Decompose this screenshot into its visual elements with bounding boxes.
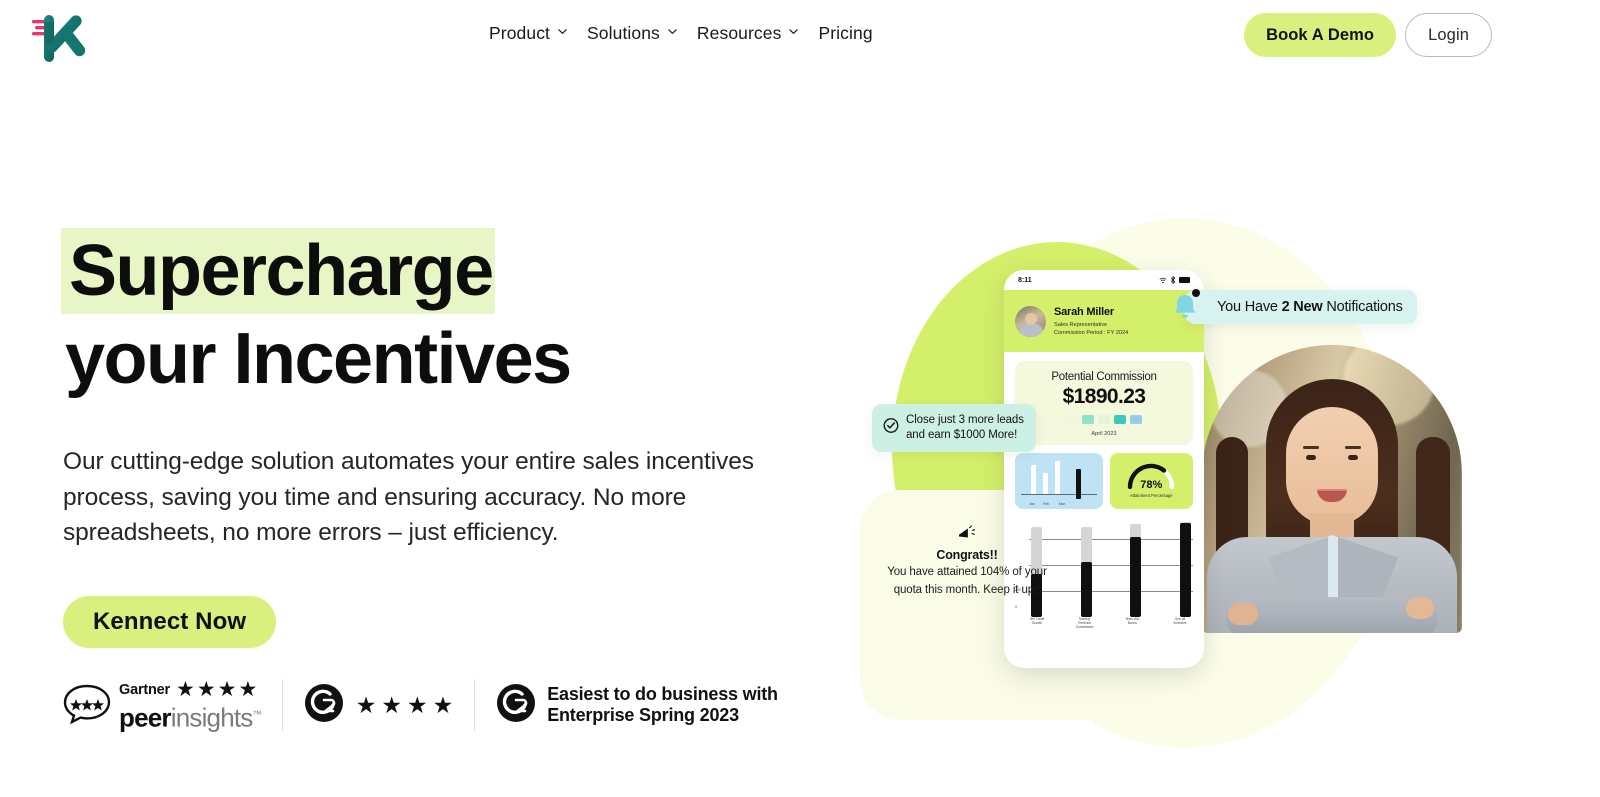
photo-smile	[1317, 489, 1347, 502]
mini-bar-chart-widget: Jan Feb Mar	[1015, 453, 1103, 509]
chart-x-label: Net Credit Growth	[1026, 617, 1048, 629]
landing-page: Product Solutions Resources Pricing	[0, 0, 1600, 797]
notification-badge-dot	[1192, 289, 1200, 297]
page-title: Supercharge your Incentives	[63, 228, 823, 400]
phone-status-bar: 8:11	[1004, 270, 1204, 290]
hero-content: Supercharge your Incentives Our cutting-…	[63, 228, 823, 648]
star-icon: ★	[381, 692, 402, 719]
wifi-icon	[1159, 277, 1167, 284]
mini-bar-label: Mar	[1059, 502, 1065, 506]
congrats-title: Congrats!!	[872, 548, 1062, 562]
commission-swatches	[1023, 415, 1185, 424]
headline-second-line: your Incentives	[63, 318, 823, 400]
congrats-card: Congrats!! You have attained 104% of you…	[872, 525, 1062, 598]
commission-value: $1890.23	[1023, 385, 1185, 409]
mini-bar-highlight	[1076, 469, 1081, 499]
nav-label: Resources	[697, 23, 782, 44]
main-navigation: Product Solutions Resources Pricing	[489, 20, 873, 47]
photo-hand-right	[1406, 597, 1434, 619]
chart-column	[1180, 519, 1191, 617]
badge-g2-easiest-business[interactable]: Easiest to do business with Enterprise S…	[496, 672, 778, 738]
mini-bar-label: Feb	[1043, 502, 1049, 506]
notification-suffix: Notifications	[1323, 299, 1403, 315]
swatch	[1130, 415, 1142, 424]
hero-illustration: 8:11 Sarah Miller Sales Representative C…	[830, 170, 1570, 750]
chevron-down-icon	[557, 26, 568, 37]
chart-column	[1081, 519, 1092, 617]
commission-month: April 2023	[1023, 431, 1185, 437]
chart-y-label: 0	[1015, 605, 1017, 609]
battery-icon	[1179, 277, 1190, 283]
mini-bar	[1031, 465, 1036, 495]
badge-gartner-peer-insights[interactable]: Gartner ★ ★ ★ ★ peerinsights™	[63, 672, 261, 738]
badge-g2-rating[interactable]: ★ ★ ★ ★	[304, 672, 454, 738]
phone-mini-widgets: Jan Feb Mar 78% Attainment Percentage	[1015, 453, 1193, 509]
chevron-down-icon	[788, 26, 799, 37]
bluetooth-icon	[1170, 276, 1176, 284]
status-time: 8:11	[1018, 277, 1032, 284]
star-icon: ★	[433, 692, 454, 719]
nav-item-pricing[interactable]: Pricing	[818, 20, 872, 47]
photo-brow	[1303, 446, 1319, 449]
nav-item-solutions[interactable]: Solutions	[587, 20, 678, 47]
chart-bar-fill	[1081, 562, 1092, 617]
g2-logo-icon	[304, 683, 344, 728]
leads-line-1: Close just 3 more leads	[906, 413, 1024, 428]
gartner-star-rating: ★ ★ ★ ★	[176, 679, 257, 700]
star-icon: ★	[238, 679, 257, 700]
peer-insights-wordmark: peerinsights™	[119, 701, 261, 731]
profile-commission-period: Commission Period : FY 2024	[1054, 329, 1128, 337]
leads-line-2: and earn $1000 More!	[906, 428, 1024, 443]
chevron-down-icon	[667, 26, 678, 37]
avatar	[1015, 306, 1046, 337]
profile-role: Sales Representative	[1054, 321, 1128, 329]
nav-item-resources[interactable]: Resources	[697, 20, 800, 47]
mini-bar-label: Jan	[1029, 502, 1034, 506]
nav-label: Pricing	[818, 23, 872, 44]
swatch	[1114, 415, 1126, 424]
mini-chart-axis	[1021, 494, 1097, 495]
swatch	[1098, 415, 1110, 424]
chart-bar-fill	[1180, 523, 1191, 617]
chart-bar-fill	[1130, 537, 1141, 617]
chart-x-label: One-off Incentive	[1169, 617, 1191, 629]
g2-logo-icon	[496, 683, 536, 728]
attainment-gauge-widget: 78% Attainment Percentage	[1110, 453, 1193, 509]
gartner-badge-text: Gartner ★ ★ ★ ★ peerinsights™	[119, 679, 261, 731]
g2-award-text: Easiest to do business with Enterprise S…	[547, 684, 778, 727]
kennect-logo[interactable]	[28, 10, 86, 62]
gauge-label: Attainment Percentage	[1130, 493, 1173, 498]
badge-divider	[282, 679, 283, 731]
star-icon: ★	[218, 679, 237, 700]
notification-prefix: You Have	[1217, 299, 1282, 315]
mini-bar	[1055, 461, 1060, 495]
photo-face	[1286, 407, 1378, 525]
kennect-now-button[interactable]: Kennect Now	[63, 596, 276, 648]
phone-mockup: 8:11 Sarah Miller Sales Representative C…	[1004, 270, 1204, 668]
sales-rep-photo	[1202, 345, 1462, 633]
bell-icon	[1170, 290, 1204, 328]
headline-highlighted: Supercharge	[61, 228, 495, 314]
star-icon: ★	[356, 692, 377, 719]
photo-hand-left	[1228, 603, 1258, 625]
nav-label: Solutions	[587, 23, 660, 44]
photo-eye	[1348, 455, 1358, 460]
login-button[interactable]: Login	[1405, 13, 1492, 57]
star-icon: ★	[407, 692, 428, 719]
g2-award-line1: Easiest to do business with	[547, 684, 778, 706]
star-icon: ★	[197, 679, 216, 700]
congrats-line-2: quota this month. Keep it up!!	[872, 582, 1062, 598]
g2-award-line2: Enterprise Spring 2023	[547, 705, 778, 727]
gartner-brand-label: Gartner	[119, 682, 170, 698]
star-icon: ★	[176, 679, 195, 700]
swatch	[1066, 415, 1078, 424]
peer-word: peer	[119, 703, 171, 733]
photo-brow	[1345, 446, 1361, 449]
status-icon-group	[1159, 276, 1190, 284]
congrats-line-1: You have attained 104% of your	[872, 564, 1062, 580]
chart-x-label: Monthly Revenue Commission	[1074, 617, 1096, 629]
notification-count: 2 New	[1282, 299, 1323, 315]
speech-bubble-stars-icon	[63, 682, 111, 729]
chart-x-label: Team Win Bonus	[1121, 617, 1143, 629]
gauge-arc-icon	[1126, 461, 1176, 489]
mini-bar	[1043, 473, 1048, 495]
chart-column	[1130, 519, 1141, 617]
megaphone-icon	[872, 525, 1062, 546]
site-header: Product Solutions Resources Pricing	[0, 0, 1600, 70]
leads-tip-card: Close just 3 more leads and earn $1000 M…	[872, 404, 1036, 452]
header-actions: Book A Demo Login	[1244, 13, 1492, 57]
chart-x-labels: Net Credit Growth Monthly Revenue Commis…	[1031, 617, 1191, 629]
nav-label: Product	[489, 23, 550, 44]
trust-badges: Gartner ★ ★ ★ ★ peerinsights™	[63, 672, 778, 738]
photo-eye	[1306, 455, 1316, 460]
commission-title: Potential Commission	[1023, 371, 1185, 383]
check-circle-icon	[883, 418, 899, 439]
profile-name: Sarah Miller	[1054, 306, 1128, 319]
g2-star-rating: ★ ★ ★ ★	[356, 692, 454, 719]
potential-commission-card: Potential Commission $1890.23 April 2023	[1015, 361, 1193, 445]
trademark-symbol: ™	[253, 709, 261, 719]
profile-text: Sarah Miller Sales Representative Commis…	[1054, 306, 1128, 337]
badge-divider	[474, 679, 475, 731]
swatch	[1082, 415, 1094, 424]
nav-item-product[interactable]: Product	[489, 20, 568, 47]
insights-word: insights	[171, 703, 253, 733]
hero-subtext: Our cutting-edge solution automates your…	[63, 444, 775, 551]
book-a-demo-button[interactable]: Book A Demo	[1244, 13, 1396, 57]
notifications-card: You Have 2 New Notifications	[1185, 290, 1417, 324]
